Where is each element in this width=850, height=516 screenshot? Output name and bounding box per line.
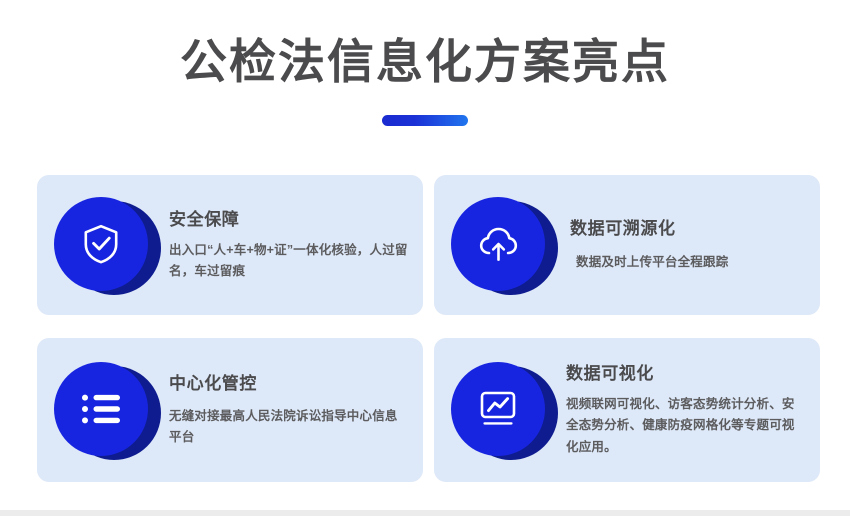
card-title: 数据可视化 xyxy=(566,364,806,384)
card-title: 数据可溯源化 xyxy=(570,219,806,239)
icon-badge-disc xyxy=(451,197,545,291)
icon-badge-disc xyxy=(451,362,545,456)
page-title: 公检法信息化方案亮点 xyxy=(0,36,850,89)
highlight-card-traceability[interactable]: 数据可溯源化 数据及时上传平台全程跟踪 xyxy=(434,175,820,315)
chart-monitor-icon xyxy=(477,389,519,429)
title-underline-bar xyxy=(382,115,468,126)
card-text: 数据可视化 视频联网可视化、访客态势统计分析、安全态势分析、健康防疫网格化等专题… xyxy=(566,362,806,459)
card-text: 中心化管控 无缝对接最高人民法院诉讼指导中心信息平台 xyxy=(169,372,409,448)
cloud-upload-icon xyxy=(476,224,520,264)
card-description: 出入口“人+车+物+证”一体化核验，人过留名，车过留痕 xyxy=(169,240,409,282)
icon-badge xyxy=(451,359,554,462)
list-bullets-icon xyxy=(80,392,122,426)
card-text: 数据可溯源化 数据及时上传平台全程跟踪 xyxy=(566,217,806,272)
card-description: 视频联网可视化、访客态势统计分析、安全态势分析、健康防疫网格化等专题可视化应用。 xyxy=(566,394,806,459)
bottom-edge-strip xyxy=(0,510,850,516)
icon-badge xyxy=(451,194,554,297)
card-description: 数据及时上传平台全程跟踪 xyxy=(570,252,806,273)
shield-check-icon xyxy=(81,223,121,265)
card-description: 无缝对接最高人民法院诉讼指导中心信息平台 xyxy=(169,406,409,448)
card-title: 安全保障 xyxy=(169,210,409,230)
icon-badge-disc xyxy=(54,197,148,291)
icon-badge-disc xyxy=(54,362,148,456)
card-title: 中心化管控 xyxy=(169,374,409,394)
highlight-card-security[interactable]: 安全保障 出入口“人+车+物+证”一体化核验，人过留名，车过留痕 xyxy=(37,175,423,315)
highlight-card-visualization[interactable]: 数据可视化 视频联网可视化、访客态势统计分析、安全态势分析、健康防疫网格化等专题… xyxy=(434,338,820,482)
card-text: 安全保障 出入口“人+车+物+证”一体化核验，人过留名，车过留痕 xyxy=(169,208,409,282)
slide-root: 公检法信息化方案亮点 安全保障 出入口“人+车+物+证”一体化核验，人 xyxy=(0,0,850,516)
highlight-card-central-control[interactable]: 中心化管控 无缝对接最高人民法院诉讼指导中心信息平台 xyxy=(37,338,423,482)
icon-badge xyxy=(54,359,157,462)
highlight-card-grid: 安全保障 出入口“人+车+物+证”一体化核验，人过留名，车过留痕 xyxy=(37,175,820,482)
header: 公检法信息化方案亮点 xyxy=(0,0,850,126)
icon-badge xyxy=(54,194,157,297)
